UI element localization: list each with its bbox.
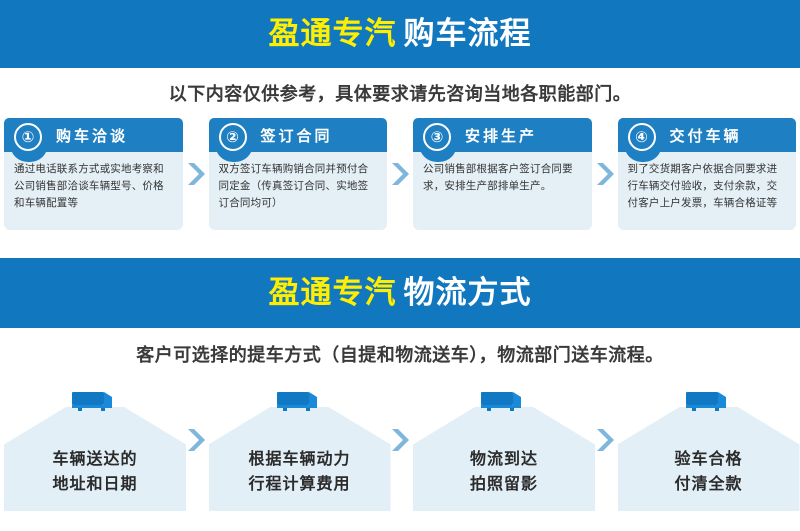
logistics-card-line2-1: 地址和日期	[4, 472, 186, 497]
purchase-step-row: 购车洽谈 ① 通过电话联系方式或实地考察和公司销售部洽谈车辆型号、价格和车辆配置…	[0, 118, 800, 236]
step-title-1: 购车洽谈	[56, 125, 128, 146]
step-number-badge-2: ②	[219, 123, 247, 151]
logistics-card-1[interactable]: 车辆送达的 地址和日期	[4, 385, 183, 511]
infographic-page: 盈通专汽购车流程 以下内容仅供参考，具体要求请先咨询当地各职能部门。 购车洽谈 …	[0, 0, 800, 531]
step-desc-3: 公司销售部根据客户签订合同要求，安排生产部排单生产。	[413, 152, 592, 230]
chevron-right-icon-1	[183, 118, 209, 230]
logistics-card-text-1: 车辆送达的 地址和日期	[4, 447, 186, 497]
logistics-card-line1-3: 物流到达	[413, 447, 595, 472]
logistics-card-text-4: 验车合格 付清全款	[618, 447, 800, 497]
step-card-2[interactable]: 签订合同 ② 双方签订车辆购销合同并预付合同定金（传真签订合同、实地签订合同均可…	[209, 118, 388, 230]
step-card-4[interactable]: 交付车辆 ④ 到了交货期客户依据合同要求进行车辆交付验收，支付余款，交付客户上户…	[618, 118, 797, 230]
truck-icon-3	[477, 389, 527, 415]
purchase-banner: 盈通专汽购车流程	[0, 0, 800, 68]
logistics-card-2[interactable]: 根据车辆动力 行程计算费用	[209, 385, 388, 511]
logistics-card-4[interactable]: 验车合格 付清全款	[618, 385, 797, 511]
purchase-subtitle: 以下内容仅供参考，具体要求请先咨询当地各职能部门。	[169, 80, 632, 106]
purchase-banner-title: 盈通专汽购车流程	[269, 19, 532, 50]
logistics-card-line1-4: 验车合格	[618, 447, 800, 472]
logistics-card-line2-2: 行程计算费用	[209, 472, 391, 497]
logistics-title-text: 物流方式	[404, 275, 532, 311]
purchase-title-text: 购车流程	[404, 16, 532, 52]
logistics-card-line1-2: 根据车辆动力	[209, 447, 391, 472]
chevron-right-icon-3	[592, 118, 618, 230]
logistics-card-line1-1: 车辆送达的	[4, 447, 186, 472]
chevron-right-icon-6	[592, 385, 618, 511]
step-number-badge-4: ④	[628, 123, 656, 151]
step-card-3[interactable]: 安排生产 ③ 公司销售部根据客户签订合同要求，安排生产部排单生产。	[413, 118, 592, 230]
logistics-card-3[interactable]: 物流到达 拍照留影	[413, 385, 592, 511]
truck-icon-4	[682, 389, 732, 415]
step-desc-1: 通过电话联系方式或实地考察和公司销售部洽谈车辆型号、价格和车辆配置等	[4, 152, 183, 230]
step-desc-2: 双方签订车辆购销合同并预付合同定金（传真签订合同、实地签订合同均可）	[209, 152, 388, 230]
logistics-card-text-2: 根据车辆动力 行程计算费用	[209, 447, 391, 497]
logistics-card-row: 车辆送达的 地址和日期 根据车辆动力 行程计算费用	[0, 380, 800, 511]
step-card-1[interactable]: 购车洽谈 ① 通过电话联系方式或实地考察和公司销售部洽谈车辆型号、价格和车辆配置…	[4, 118, 183, 230]
step-title-3: 安排生产	[465, 125, 537, 146]
step-number-badge-1: ①	[14, 123, 42, 151]
step-desc-4: 到了交货期客户依据合同要求进行车辆交付验收，支付余款，交付客户上户发票，车辆合格…	[618, 152, 797, 230]
step-number-badge-3: ③	[423, 123, 451, 151]
logistics-card-line2-3: 拍照留影	[413, 472, 595, 497]
purchase-subtitle-wrap: 以下内容仅供参考，具体要求请先咨询当地各职能部门。	[0, 68, 800, 118]
brand-name-2: 盈通专汽	[269, 275, 397, 311]
chevron-right-icon-2	[387, 118, 413, 230]
logistics-subtitle: 客户可选择的提车方式（自提和物流送车），物流部门送车流程。	[136, 341, 664, 367]
chevron-right-icon-4	[183, 385, 209, 511]
truck-icon-2	[273, 389, 323, 415]
logistics-card-line2-4: 付清全款	[618, 472, 800, 497]
section-divider	[0, 236, 800, 258]
logistics-banner-title: 盈通专汽物流方式	[269, 278, 532, 309]
step-title-2: 签订合同	[261, 125, 333, 146]
truck-icon-1	[68, 389, 118, 415]
step-title-4: 交付车辆	[670, 125, 742, 146]
brand-name: 盈通专汽	[269, 16, 397, 52]
chevron-right-icon-5	[387, 385, 413, 511]
logistics-card-text-3: 物流到达 拍照留影	[413, 447, 595, 497]
logistics-subtitle-wrap: 客户可选择的提车方式（自提和物流送车），物流部门送车流程。	[0, 328, 800, 380]
logistics-banner: 盈通专汽物流方式	[0, 258, 800, 328]
